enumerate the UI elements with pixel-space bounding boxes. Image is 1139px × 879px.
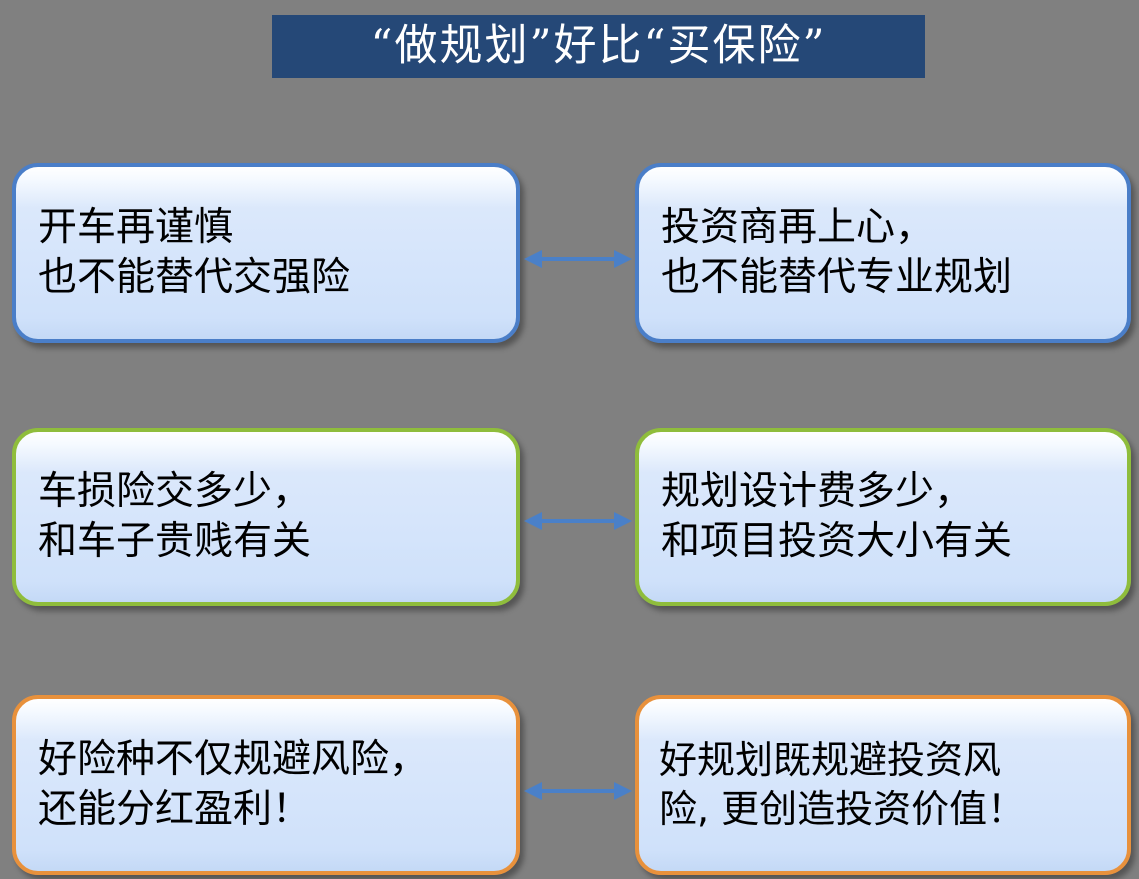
insurance-box-row-1[interactable]: 开车再谨慎 也不能替代交强险 bbox=[12, 163, 520, 343]
insurance-box-row-1-text: 开车再谨慎 也不能替代交强险 bbox=[16, 203, 364, 303]
comparison-row-1: 开车再谨慎 也不能替代交强险 投资商再上心， 也不能替代专业规划 bbox=[0, 163, 1139, 343]
planning-box-row-3-text: 好规划既规避投资风 险, 更创造投资价值！ bbox=[639, 736, 1039, 833]
planning-box-row-1-text: 投资商再上心， 也不能替代专业规划 bbox=[639, 203, 1026, 303]
comparison-row-2: 车损险交多少， 和车子贵贱有关 规划设计费多少， 和项目投资大小有关 bbox=[0, 428, 1139, 606]
planning-box-row-2-text: 规划设计费多少， 和项目投资大小有关 bbox=[639, 467, 1026, 567]
planning-box-row-2[interactable]: 规划设计费多少， 和项目投资大小有关 bbox=[635, 428, 1131, 606]
insurance-box-row-3-text: 好险种不仅规避风险， 还能分红盈利！ bbox=[16, 735, 442, 835]
insurance-box-row-2[interactable]: 车损险交多少， 和车子贵贱有关 bbox=[12, 428, 520, 606]
insurance-box-row-3[interactable]: 好险种不仅规避风险， 还能分红盈利！ bbox=[12, 695, 520, 875]
insurance-box-row-2-text: 车损险交多少， 和车子贵贱有关 bbox=[16, 467, 325, 567]
comparison-grid: 开车再谨慎 也不能替代交强险 投资商再上心， 也不能替代专业规划 车损险交多少，… bbox=[0, 0, 1139, 879]
planning-box-row-1[interactable]: 投资商再上心， 也不能替代专业规划 bbox=[635, 163, 1131, 343]
comparison-row-3: 好险种不仅规避风险， 还能分红盈利！ 好规划既规避投资风 险, 更创造投资价值！ bbox=[0, 695, 1139, 875]
planning-box-row-3[interactable]: 好规划既规避投资风 险, 更创造投资价值！ bbox=[635, 695, 1131, 875]
